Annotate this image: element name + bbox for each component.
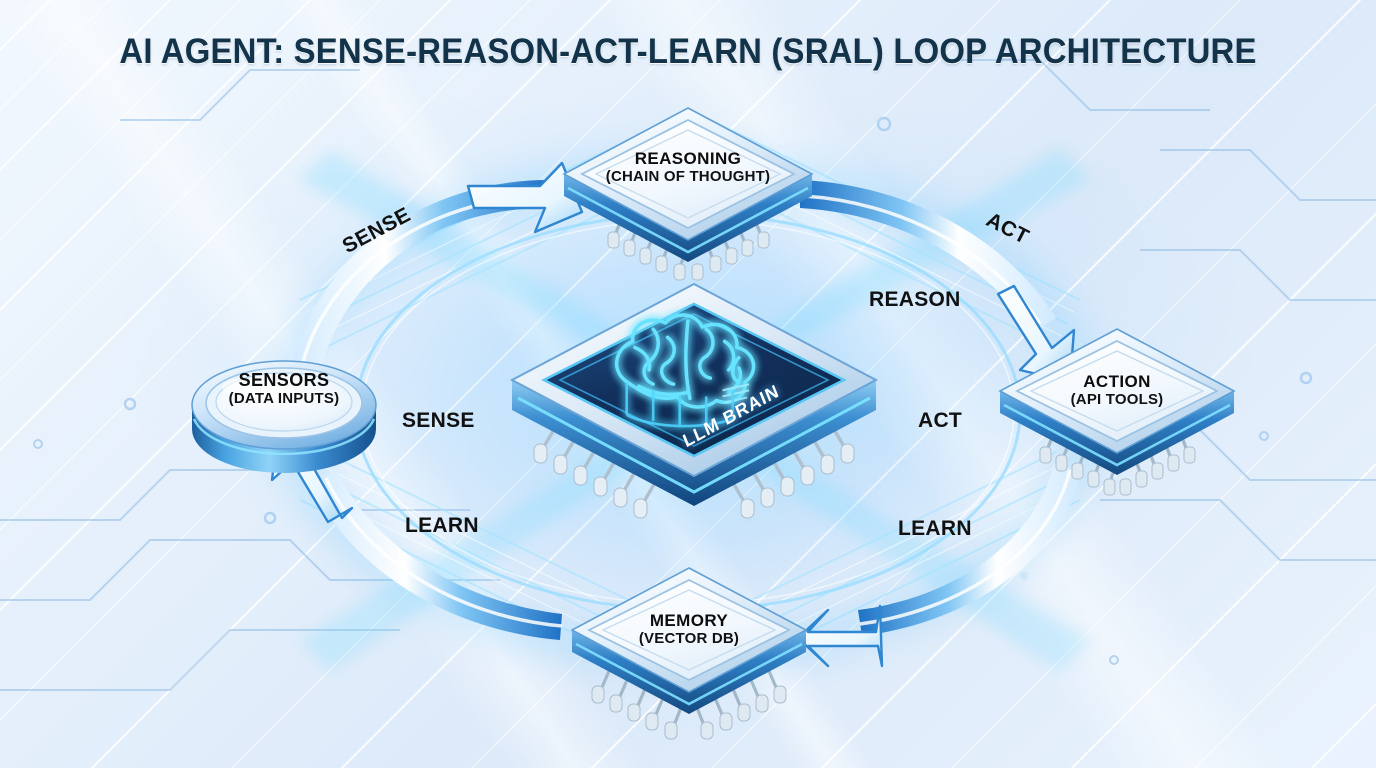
node-llm-brain[interactable]: LLM BRAIN: [498, 258, 890, 550]
node-sensors[interactable]: SENSORS (DATA INPUTS): [188, 333, 380, 475]
node-action[interactable]: ACTION (API TOOLS): [990, 313, 1244, 501]
diagram-canvas: AI AGENT: SENSE-REASON-ACT-LEARN (SRAL) …: [0, 0, 1376, 768]
node-memory[interactable]: MEMORY (VECTOR DB): [562, 556, 816, 746]
